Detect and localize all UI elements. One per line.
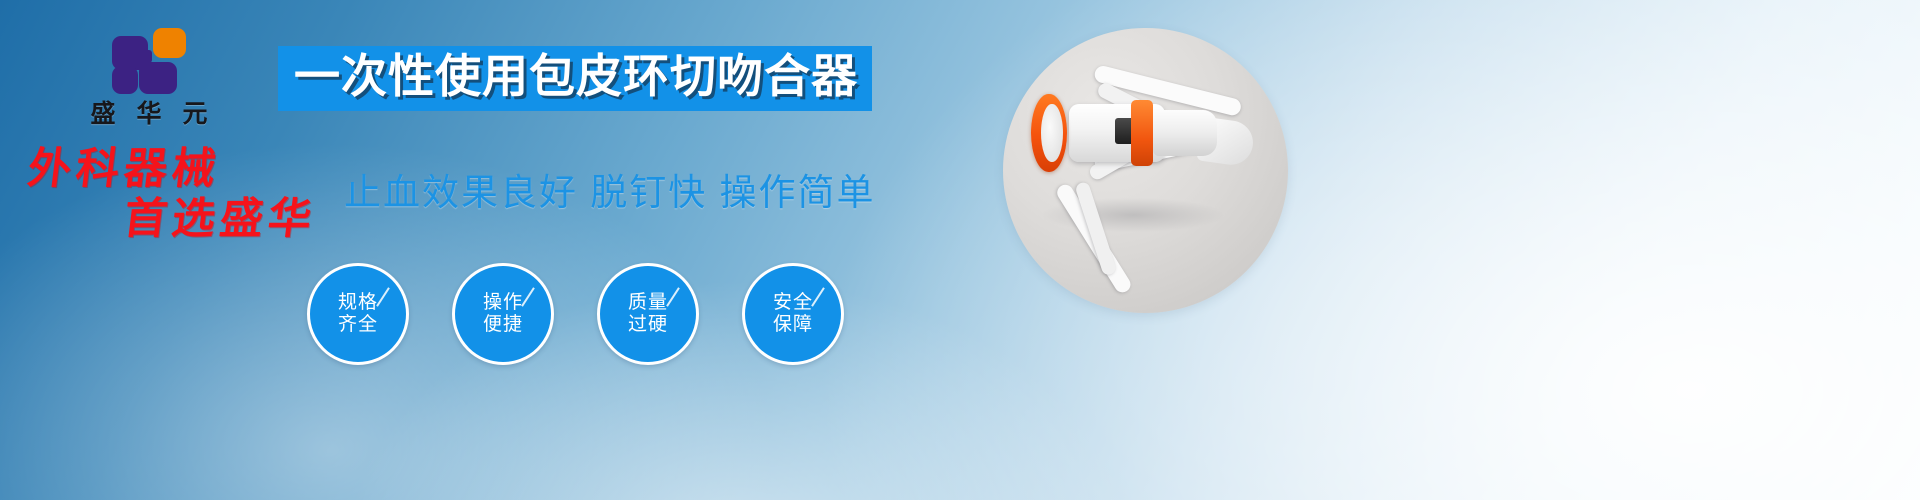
calligraphy-slogan: 外科器械 首选盛华	[24, 148, 364, 242]
logo-shape-lower-left	[112, 66, 138, 94]
logo-shape-orange-square	[153, 28, 186, 58]
feature-badge-list: 规格 齐全 操作 便捷 质量 过硬 安全 保障	[307, 263, 844, 365]
device-cap-inner	[1041, 104, 1063, 162]
feature-badge-line-1: 规格	[338, 292, 378, 314]
feature-badge[interactable]: 安全 保障	[742, 263, 844, 365]
device-orange-collar	[1131, 100, 1153, 166]
feature-badge-line-1: 操作	[483, 292, 523, 314]
promo-banner: 盛 华 元 外科器械 首选盛华 一次性使用包皮环切吻合器 止血效果良好 脱钉快 …	[0, 0, 1920, 500]
shenghuayuan-logo-icon	[112, 28, 186, 94]
circumcision-stapler-photo	[1003, 28, 1288, 313]
brand-logo-block: 盛 华 元	[64, 28, 234, 129]
product-title-band: 一次性使用包皮环切吻合器	[278, 46, 872, 111]
product-subtitle: 止血效果良好 脱钉快 操作简单	[344, 162, 876, 216]
feature-badge-line-2: 齐全	[338, 314, 378, 336]
slash-accent-icon	[666, 287, 680, 307]
logo-shape-lower-right	[139, 62, 177, 94]
feature-badge[interactable]: 规格 齐全	[307, 263, 409, 365]
feature-badge-line-1: 质量	[628, 292, 668, 314]
brand-name: 盛 华 元	[64, 101, 234, 129]
slash-accent-icon	[376, 287, 390, 307]
slash-accent-icon	[521, 287, 535, 307]
logo-shape-center-dot	[139, 50, 152, 63]
calligraphy-line-1: 外科器械	[21, 148, 366, 192]
slash-accent-icon	[811, 287, 825, 307]
feature-badge-line-2: 保障	[773, 314, 813, 336]
feature-badge-line-2: 过硬	[628, 314, 668, 336]
feature-badge-line-2: 便捷	[483, 314, 523, 336]
feature-badge[interactable]: 操作 便捷	[452, 263, 554, 365]
feature-badge-line-1: 安全	[773, 292, 813, 314]
product-title: 一次性使用包皮环切吻合器	[294, 52, 858, 101]
calligraphy-line-2: 首选盛华	[21, 198, 366, 242]
feature-badge[interactable]: 质量 过硬	[597, 263, 699, 365]
device-front-barrel	[1153, 110, 1217, 156]
